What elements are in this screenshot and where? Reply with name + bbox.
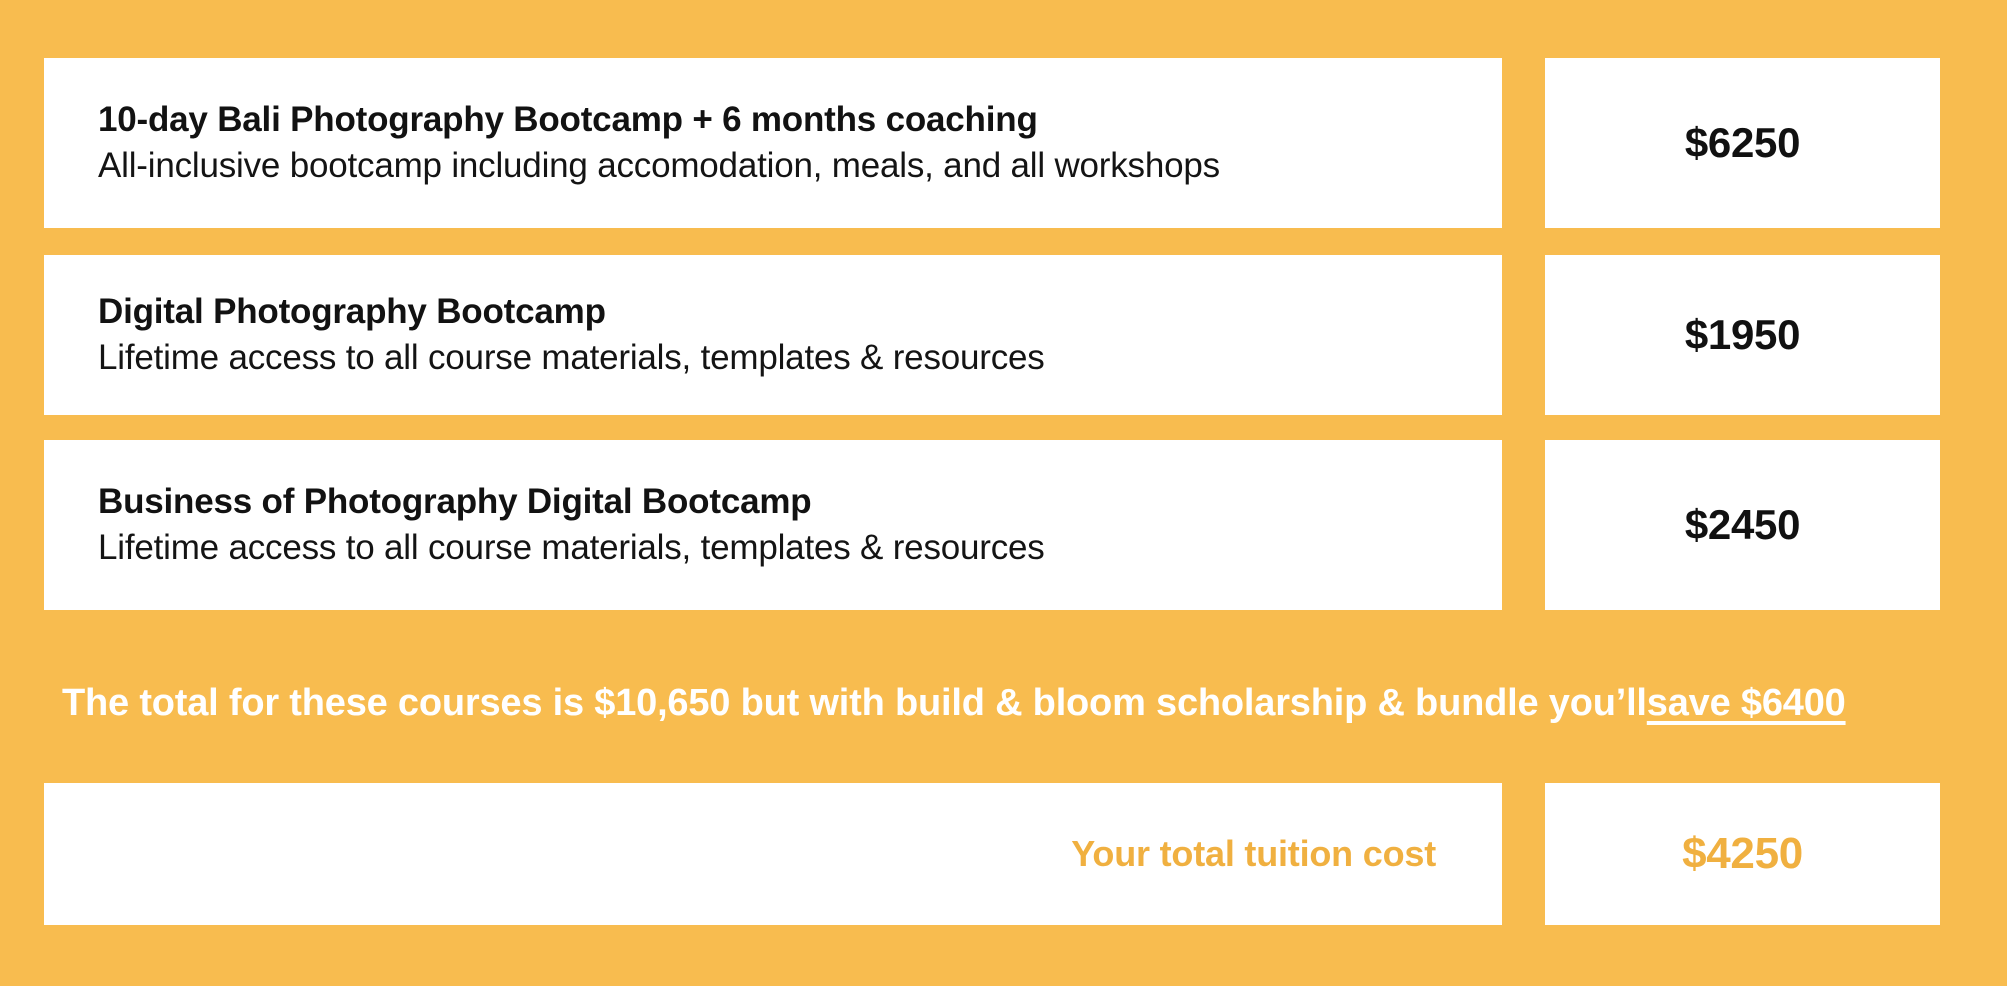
- course-card: Business of Photography Digital Bootcamp…: [44, 440, 1502, 610]
- course-price: $2450: [1685, 504, 1800, 546]
- course-card: Digital Photography Bootcamp Lifetime ac…: [44, 255, 1502, 415]
- savings-amount-highlight: save $6400: [1647, 682, 1846, 725]
- course-price-card: $6250: [1545, 58, 1940, 228]
- course-price: $6250: [1685, 122, 1800, 164]
- course-price: $1950: [1685, 314, 1800, 356]
- total-tuition-label: Your total tuition cost: [1071, 833, 1436, 875]
- course-price-card: $2450: [1545, 440, 1940, 610]
- course-title: Business of Photography Digital Bootcamp: [98, 480, 1448, 525]
- total-tuition-value: $4250: [1682, 829, 1803, 879]
- pricing-sheet: 10-day Bali Photography Bootcamp + 6 mon…: [0, 0, 2007, 986]
- total-label-card: Your total tuition cost: [44, 783, 1502, 925]
- course-price-card: $1950: [1545, 255, 1940, 415]
- course-title: 10-day Bali Photography Bootcamp + 6 mon…: [98, 98, 1448, 143]
- scholarship-note: The total for these courses is $10,650 b…: [62, 674, 1957, 732]
- course-description: Lifetime access to all course materials,…: [98, 525, 1448, 571]
- scholarship-note-lead: The total for these courses is $10,650 b…: [62, 682, 1647, 725]
- course-description: All-inclusive bootcamp including accomod…: [98, 143, 1448, 189]
- total-price-card: $4250: [1545, 783, 1940, 925]
- course-title: Digital Photography Bootcamp: [98, 290, 1448, 335]
- course-description: Lifetime access to all course materials,…: [98, 335, 1448, 381]
- course-card: 10-day Bali Photography Bootcamp + 6 mon…: [44, 58, 1502, 228]
